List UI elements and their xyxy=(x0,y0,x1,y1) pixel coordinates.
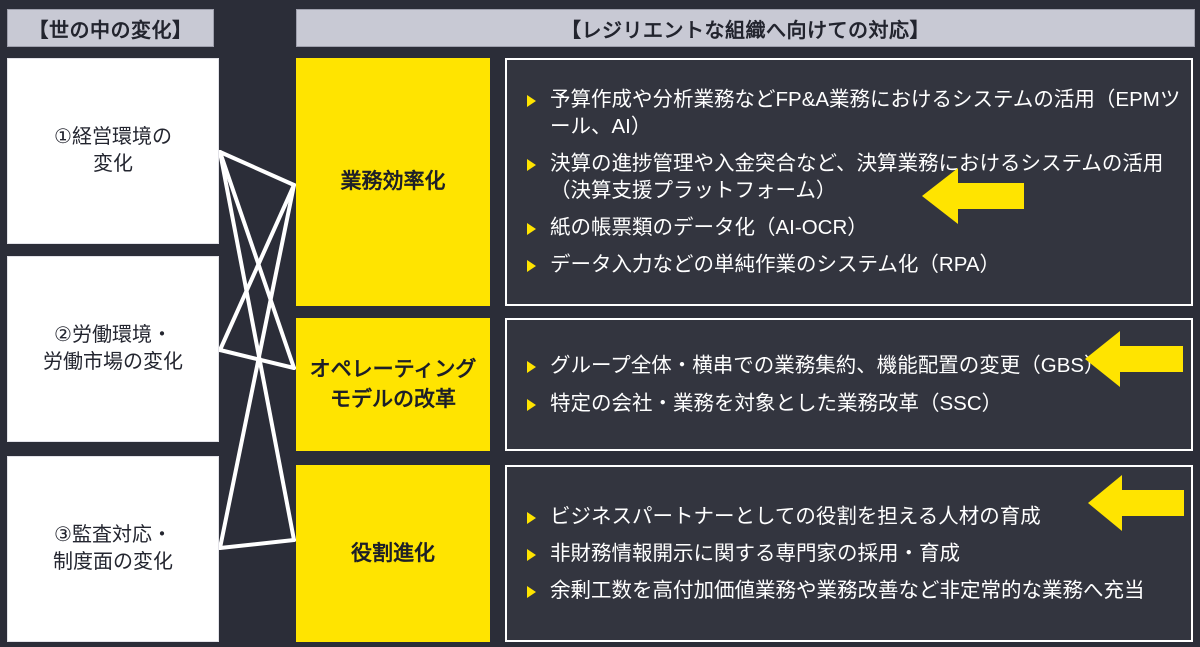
list-item[interactable]: 紙の帳票類のデータ化（AI-OCR） xyxy=(515,214,1181,241)
list-item-label: 紙の帳票類のデータ化（AI-OCR） xyxy=(550,214,1181,241)
theme-box-2-label: オペレーティング モデルの改革 xyxy=(310,355,477,414)
list-item-label: データ入力などの単純作業のシステム化（RPA） xyxy=(550,251,1181,278)
highlight-arrow-2-icon xyxy=(1085,331,1183,387)
list-item[interactable]: 特定の会社・業務を対象とした業務改革（SSC） xyxy=(515,390,1181,417)
list-item-label: 非財務情報開示に関する専門家の採用・育成 xyxy=(550,540,1181,567)
change-box-1[interactable]: ①経営環境の 変化 xyxy=(7,58,219,244)
theme-box-3-label: 役割進化 xyxy=(351,539,435,568)
list-item[interactable]: 予算作成や分析業務などFP&A業務におけるシステムの活用（EPMツール、AI） xyxy=(515,86,1181,140)
list-item[interactable]: 余剰工数を高付加価値業務や業務改善など非定常的な業務へ充当 xyxy=(515,577,1181,604)
triangle-bullet-icon xyxy=(527,361,536,373)
triangle-bullet-icon xyxy=(527,512,536,524)
change-box-2-label: ②労働環境・ 労働市場の変化 xyxy=(43,322,183,376)
triangle-bullet-icon xyxy=(527,586,536,598)
theme-box-operating-model[interactable]: オペレーティング モデルの改革 xyxy=(296,318,490,451)
change-box-3-label: ③監査対応・ 制度面の変化 xyxy=(53,522,173,576)
triangle-bullet-icon xyxy=(527,159,536,171)
list-item-label: 予算作成や分析業務などFP&A業務におけるシステムの活用（EPMツール、AI） xyxy=(550,86,1181,140)
list-item-label: 余剰工数を高付加価値業務や業務改善など非定常的な業務へ充当 xyxy=(550,577,1181,604)
triangle-bullet-icon xyxy=(527,549,536,561)
change-box-2[interactable]: ②労働環境・ 労働市場の変化 xyxy=(7,256,219,442)
list-item-label: 決算の進捗管理や入金突合など、決算業務におけるシステムの活用（決算支援プラットフ… xyxy=(550,150,1181,204)
theme-box-efficiency[interactable]: 業務効率化 xyxy=(296,58,490,306)
change-box-1-label: ①経営環境の 変化 xyxy=(54,124,172,178)
change-box-3[interactable]: ③監査対応・ 制度面の変化 xyxy=(7,456,219,642)
theme-box-role-evolution[interactable]: 役割進化 xyxy=(296,465,490,642)
measures-panel-1: 予算作成や分析業務などFP&A業務におけるシステムの活用（EPMツール、AI） … xyxy=(505,58,1193,306)
header-world-changes: 【世の中の変化】 xyxy=(7,9,214,47)
diagram-canvas: 【世の中の変化】 【レジリエントな組織へ向けての対応】 ①経営環境の 変化 ②労… xyxy=(0,0,1200,647)
triangle-bullet-icon xyxy=(527,260,536,272)
highlight-arrow-3-icon xyxy=(1088,475,1184,531)
header-resilient-response: 【レジリエントな組織へ向けての対応】 xyxy=(296,9,1195,47)
list-item-label: ビジネスパートナーとしての役割を担える人材の育成 xyxy=(550,503,1181,530)
triangle-bullet-icon xyxy=(527,95,536,107)
list-item[interactable]: 非財務情報開示に関する専門家の採用・育成 xyxy=(515,540,1181,567)
theme-box-1-label: 業務効率化 xyxy=(341,167,446,196)
triangle-bullet-icon xyxy=(527,223,536,235)
list-item-label: 特定の会社・業務を対象とした業務改革（SSC） xyxy=(550,390,1181,417)
list-item[interactable]: データ入力などの単純作業のシステム化（RPA） xyxy=(515,251,1181,278)
triangle-bullet-icon xyxy=(527,399,536,411)
list-item[interactable]: ビジネスパートナーとしての役割を担える人材の育成 xyxy=(515,503,1181,530)
list-item[interactable]: 決算の進捗管理や入金突合など、決算業務におけるシステムの活用（決算支援プラットフ… xyxy=(515,150,1181,204)
highlight-arrow-1-icon xyxy=(922,168,1024,224)
list-item[interactable]: グループ全体・横串での業務集約、機能配置の変更（GBS） xyxy=(515,352,1181,379)
